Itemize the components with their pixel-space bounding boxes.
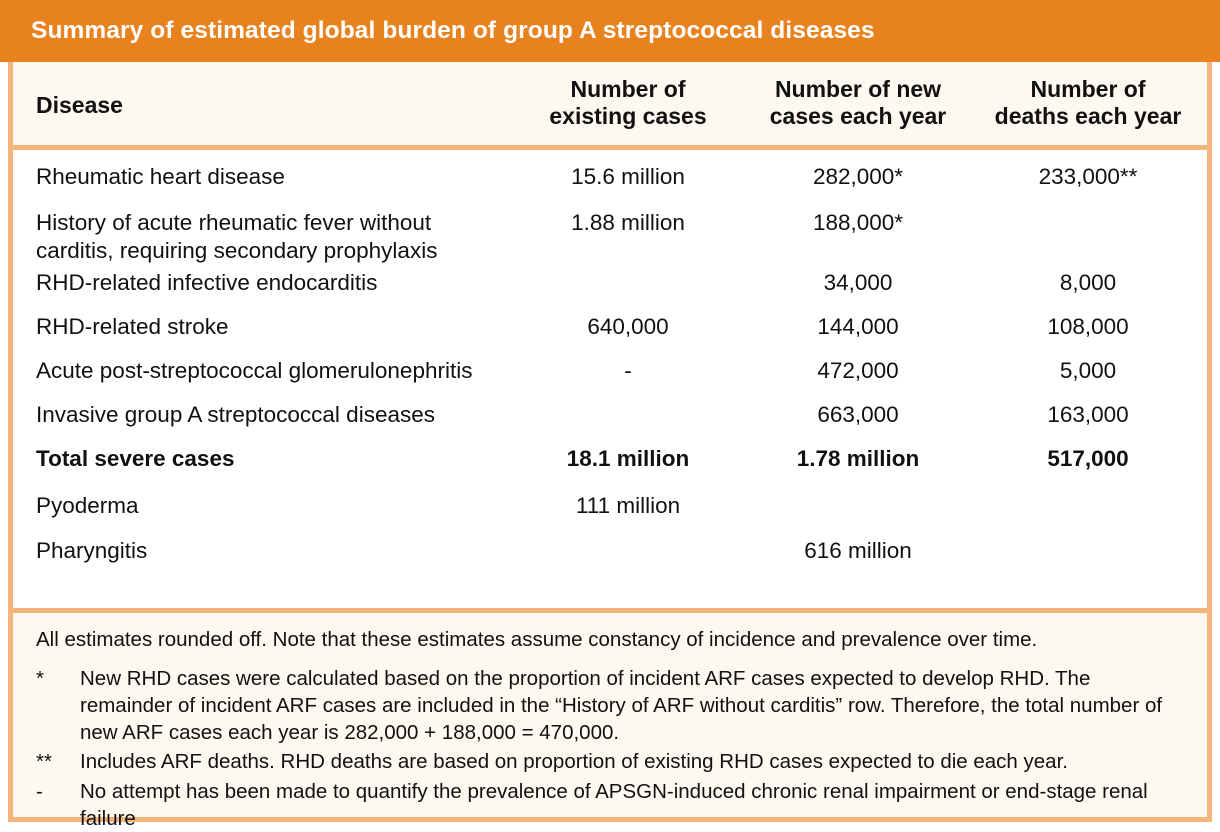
footnote-text: No attempt has been made to quantify the…: [80, 778, 1187, 832]
footnote-item-asterisk: * New RHD cases were calculated based on…: [36, 665, 1187, 747]
page-title: Summary of estimated global burden of gr…: [31, 17, 875, 45]
cell-new-cases: 34,000: [743, 269, 973, 297]
footnote-marker: *: [36, 665, 80, 747]
cell-existing-cases: 111 million: [513, 492, 743, 520]
cell-deaths: 5,000: [973, 357, 1203, 385]
footnote-item-double-asterisk: ** Includes ARF deaths. RHD deaths are b…: [36, 748, 1187, 775]
cell-deaths: 233,000**: [973, 163, 1203, 191]
cell-existing-cases: 640,000: [513, 313, 743, 341]
column-header-existing-line1: Number of: [513, 76, 743, 103]
cell-disease: Pharyngitis: [13, 537, 513, 565]
table-row: Rheumatic heart disease 15.6 million 282…: [13, 163, 1207, 209]
cell-new-cases: 282,000*: [743, 163, 973, 191]
table-row: RHD-related infective endocarditis 34,00…: [13, 269, 1207, 313]
footnote-item-dash: - No attempt has been made to quantify t…: [36, 778, 1187, 832]
footnote-text: New RHD cases were calculated based on t…: [80, 665, 1187, 747]
cell-new-cases: 144,000: [743, 313, 973, 341]
summary-table-figure: Summary of estimated global burden of gr…: [0, 0, 1220, 830]
table-header-row: Disease Number of existing cases Number …: [13, 62, 1207, 150]
cell-disease: RHD-related infective endocarditis: [13, 269, 513, 297]
column-header-new-line1: Number of new: [743, 76, 973, 103]
table-row-total: Total severe cases 18.1 million 1.78 mil…: [13, 445, 1207, 492]
cell-disease: Total severe cases: [13, 445, 513, 473]
cell-new-cases: 616 million: [743, 537, 973, 565]
table-row: Pharyngitis 616 million: [13, 537, 1207, 580]
table-row: Invasive group A streptococcal diseases …: [13, 401, 1207, 445]
table-row: Pyoderma 111 million: [13, 492, 1207, 537]
cell-new-cases: 472,000: [743, 357, 973, 385]
cell-disease: RHD-related stroke: [13, 313, 513, 341]
column-header-new-line2: cases each year: [743, 103, 973, 130]
footnote-marker: **: [36, 748, 80, 775]
cell-deaths: 8,000: [973, 269, 1203, 297]
cell-disease: Pyoderma: [13, 492, 513, 520]
table-title-banner: Summary of estimated global burden of gr…: [0, 0, 1220, 62]
cell-disease: Acute post-streptococcal glomerulonephri…: [13, 357, 513, 385]
cell-deaths: 108,000: [973, 313, 1203, 341]
cell-existing-cases: 15.6 million: [513, 163, 743, 191]
cell-deaths: 163,000: [973, 401, 1203, 429]
cell-new-cases: 188,000*: [743, 209, 973, 237]
footnote-intro: All estimates rounded off. Note that the…: [36, 627, 1187, 654]
footnotes-block: All estimates rounded off. Note that the…: [8, 608, 1212, 822]
cell-disease: Invasive group A streptococcal diseases: [13, 401, 513, 429]
column-header-deaths: Number of deaths each year: [973, 74, 1203, 135]
cell-disease: Rheumatic heart disease: [13, 163, 513, 191]
table-row: RHD-related stroke 640,000 144,000 108,0…: [13, 313, 1207, 357]
cell-existing-cases: 1.88 million: [513, 209, 743, 237]
cell-new-cases: 663,000: [743, 401, 973, 429]
column-header-existing-cases: Number of existing cases: [513, 74, 743, 135]
table-body: Rheumatic heart disease 15.6 million 282…: [13, 150, 1207, 580]
column-header-disease: Disease: [13, 74, 513, 135]
column-header-existing-line2: existing cases: [513, 103, 743, 130]
column-header-deaths-line2: deaths each year: [973, 103, 1203, 130]
cell-existing-cases: -: [513, 357, 743, 385]
column-header-new-cases: Number of new cases each year: [743, 74, 973, 135]
cell-deaths: 517,000: [973, 445, 1203, 473]
cell-disease: History of acute rheumatic fever without…: [13, 209, 513, 266]
cell-existing-cases: 18.1 million: [513, 445, 743, 473]
table-row: Acute post-streptococcal glomerulonephri…: [13, 357, 1207, 401]
footnote-marker: -: [36, 778, 80, 832]
table-row: History of acute rheumatic fever without…: [13, 209, 1207, 269]
cell-new-cases: 1.78 million: [743, 445, 973, 473]
column-header-deaths-line1: Number of: [973, 76, 1203, 103]
footnote-text: Includes ARF deaths. RHD deaths are base…: [80, 748, 1187, 775]
